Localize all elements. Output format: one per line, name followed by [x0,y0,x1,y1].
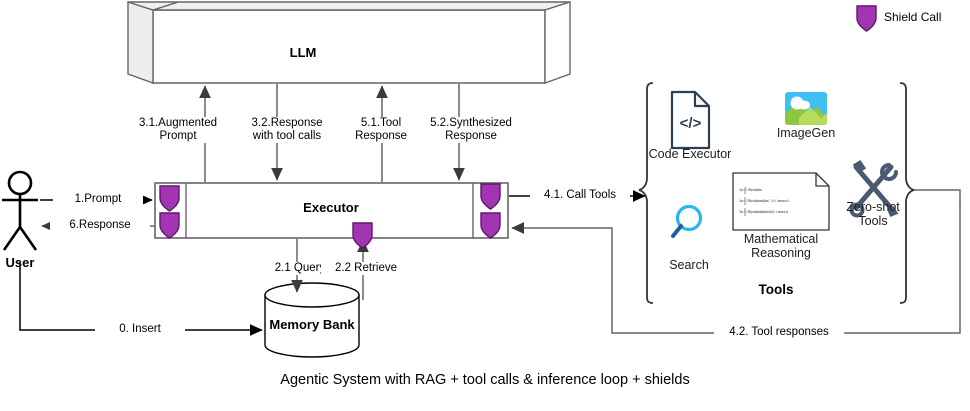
edge-label-6-response: 6.Response [50,219,150,232]
tool-label-code-executor: Code Executor [635,147,745,161]
edge-label-32-response-tool-calls: 3.2.Response with tool calls [237,117,337,143]
magnifier-icon[interactable] [673,207,701,237]
image-icon[interactable] [785,92,827,125]
edge-label-31-augmented-prompt: 3.1.Augmented Prompt [132,117,224,143]
legend-shield-label: Shield Call [884,11,970,24]
edge-label-41-call-tools: 4.1. Call Tools [530,189,630,202]
tool-icon-layer: </> A₀= 1/P ∫ s(t)dt Aₙ= [0,0,970,411]
tool-label-mathematical-reasoning: Mathematical Reasoning [726,232,836,260]
tool-label-search: Search [644,258,734,272]
edge-label-0-insert: 0. Insert [95,323,185,336]
tools-group-label: Tools [726,283,826,296]
llm-label: LLM [253,46,353,59]
edge-label-51-tool-response: 5.1.Tool Response [341,117,421,143]
edge-label-42-tool-responses: 4.2. Tool responses [714,326,844,339]
svg-text:A₀= 1/P ∫ s(t)dt: A₀= 1/P ∫ s(t)dt [739,188,761,192]
svg-text:Nₙ= 2/P ∫ s(t)sin(2πƒ₀t)dt: Nₙ= 2/P ∫ s(t)sin(2πƒ₀t)dt for n ≥ 1 [739,210,789,214]
code-document-icon[interactable]: </> [672,92,709,148]
tool-label-imagegen: ImageGen [751,126,861,140]
math-document-icon[interactable]: A₀= 1/P ∫ s(t)dt Aₙ= 2/P ∫ s(t)cos(2πƒ₀t… [733,173,829,230]
user-label: User [0,256,60,269]
diagram-canvas: </> A₀= 1/P ∫ s(t)dt Aₙ= [0,0,970,411]
diagram-caption: Agentic System with RAG + tool calls & i… [0,372,970,388]
memory-bank-label: Memory Bank [242,318,382,331]
executor-label: Executor [261,201,401,214]
svg-text:Aₙ= 2/P ∫ s(t)cos(2πƒ₀t)dt: Aₙ= 2/P ∫ s(t)cos(2πƒ₀t)dt for n ≥ 1 [739,199,789,203]
tool-label-zero-shot-tools: Zero-shot Tools [833,200,913,228]
svg-text:</>: </> [680,115,702,132]
edge-label-1-prompt: 1.Prompt [53,193,143,206]
edge-label-52-synthesized-response: 5.2.Synthesized Response [421,117,521,143]
edge-label-22-retrieve: 2.2 Retrieve [321,262,411,275]
